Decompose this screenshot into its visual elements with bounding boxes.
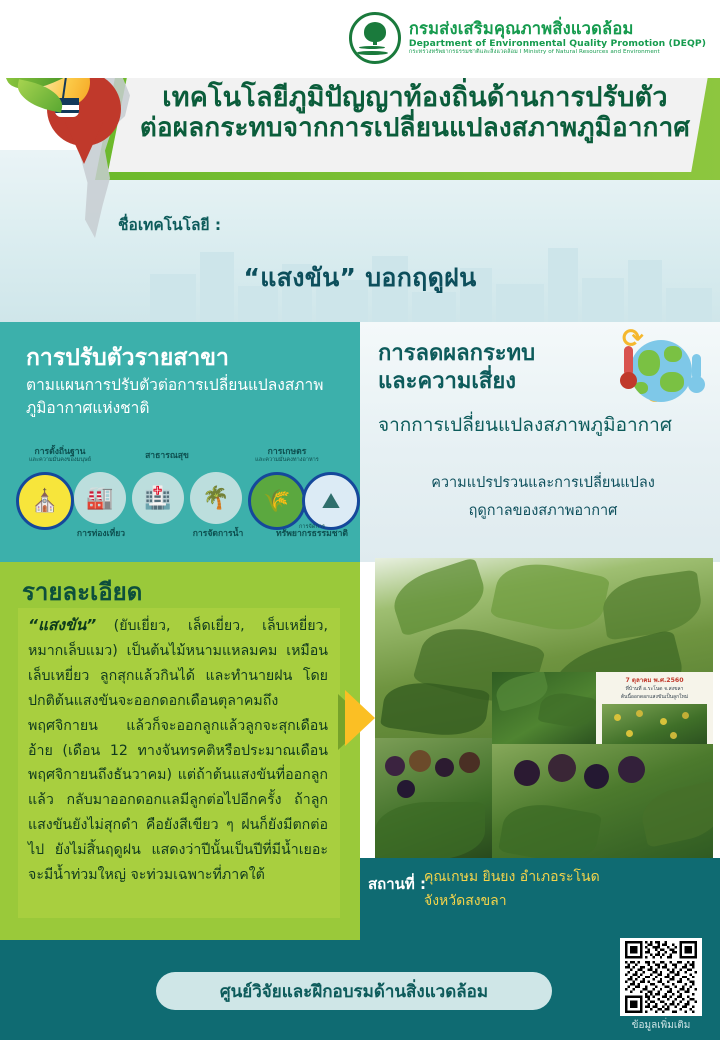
mitigation-subheading: จากการเปลี่ยนแปลงสภาพภูมิอากาศ <box>378 410 708 440</box>
technology-label: ชื่อเทคโนโลยี : <box>118 212 221 237</box>
qr-code-svg <box>623 941 699 1013</box>
adaptation-subheading: ตามแผนการปรับตัวต่อการเปลี่ยนแปลงสภาพภูม… <box>26 374 338 421</box>
mitigation-note: ความแปรปรวนและการเปลี่ยนแปลง ฤดูกาลของสภ… <box>378 470 708 525</box>
sector-label-public-health: สาธารณสุข <box>124 452 210 461</box>
public-health-icon: 🏥 <box>132 472 184 524</box>
deqp-logo: กรมส่งเสริมคุณภาพสิ่งแวดล้อม Department … <box>349 12 706 64</box>
mitigation-heading-line-2: และความเสี่ยง <box>378 368 603 396</box>
sector-label-agriculture: การเกษตร และความมั่นคงทางอาหาร <box>236 448 338 464</box>
org-ministry: กระทรวงทรัพยากรธรรมชาติและสิ่งแวดล้อม I … <box>409 49 706 55</box>
title-line-1: เทคโนโลยีภูมิปัญญาท้องถิ่นด้านการปรับตัว <box>135 82 695 113</box>
agriculture-icon: 🌾 <box>251 475 303 527</box>
inset-photo-image <box>602 704 707 746</box>
sector-icon-tourism[interactable]: 🏭 <box>74 472 126 524</box>
sector-icon-public-health[interactable]: 🏥 <box>132 472 184 524</box>
inset-header: 7 ตุลาคม พ.ศ.2560 <box>600 675 709 685</box>
adaptation-panel: การปรับตัวรายสาขา ตามแผนการปรับตัวต่อการ… <box>0 322 360 562</box>
deqp-tree-water-logo-icon <box>349 12 401 64</box>
water-management-icon: 🌴 <box>190 472 242 524</box>
adaptation-heading: การปรับตัวรายสาขา <box>26 340 229 376</box>
org-name-en: Department of Environmental Quality Prom… <box>409 39 706 49</box>
center-name-badge: ศูนย์วิจัยและฝึกอบรมด้านสิ่งแวดล้อม <box>156 972 552 1010</box>
details-term: “แสงขัน” <box>28 616 96 634</box>
page-title: เทคโนโลยีภูมิปัญญาท้องถิ่นด้านการปรับตัว… <box>135 82 695 143</box>
sector-label-natural-resources: การจัดการ ทรัพยากรธรรมชาติ <box>264 524 360 540</box>
title-line-2: ต่อผลกระทบจากการเปลี่ยนแปลงสภาพภูมิอากาศ <box>135 113 695 143</box>
secondary-photo <box>492 672 596 744</box>
sector-icon-water-management[interactable]: 🌴 <box>190 472 242 524</box>
location-label: สถานที่ : <box>368 872 426 896</box>
inset-photo-card: 7 ตุลาคม พ.ศ.2560 ที่บ้านที่ อ.ระโนด จ.ส… <box>596 672 713 750</box>
mitigation-note-line-2: ฤดูกาลของสภาพอากาศ <box>378 498 708 526</box>
location-line-1: คุณเกษม ยินยง อำเภอระโนด <box>424 866 600 888</box>
page-header: กรมส่งเสริมคุณภาพสิ่งแวดล้อม Department … <box>0 0 720 78</box>
inset-line-1: ที่บ้านที่ อ.ระโนด จ.สงขลา <box>600 685 709 693</box>
location-line-2: จังหวัดสงขลา <box>424 890 507 912</box>
mitigation-heading-line-1: การลดผลกระทบ <box>378 340 603 368</box>
technology-name: “แสงขัน” บอกฤดูฝน <box>0 258 720 298</box>
mitigation-panel: การลดผลกระทบ และความเสี่ยง จากการเปลี่ยน… <box>360 322 720 562</box>
natural-resources-icon: ⛰ <box>305 475 357 527</box>
details-text: “แสงขัน” (ยับเยี่ยว, เล็ดเยี่ยว, เล็บเหย… <box>28 612 328 888</box>
sector-icon-agriculture[interactable]: 🌾 <box>248 472 306 530</box>
details-heading: รายละเอียด <box>22 572 142 611</box>
arrow-right-icon <box>345 690 375 746</box>
org-name-th: กรมส่งเสริมคุณภาพสิ่งแวดล้อม <box>409 20 706 38</box>
sector-label-settlement: การตั้งถิ่นฐาน และความมั่นคงของมนุษย์ <box>10 448 110 464</box>
berries-photo <box>375 738 492 862</box>
mitigation-heading: การลดผลกระทบ และความเสี่ยง <box>378 340 603 395</box>
settlement-icon: ⛪ <box>19 475 71 527</box>
qr-caption: ข้อมูลเพิ่มเติม <box>612 1018 710 1033</box>
poster-root: กรมส่งเสริมคุณภาพสิ่งแวดล้อม Department … <box>0 0 720 1040</box>
qr-code-icon[interactable] <box>620 938 702 1016</box>
center-name: ศูนย์วิจัยและฝึกอบรมด้านสิ่งแวดล้อม <box>220 978 488 1005</box>
tertiary-photo <box>492 744 713 862</box>
sector-icon-natural-resources[interactable]: ⛰ <box>302 472 360 530</box>
globe-thermometer-icon: ⟳ ⟳ <box>616 328 700 412</box>
sector-icon-settlement[interactable]: ⛪ <box>16 472 74 530</box>
inset-line-2: ต้นนี้ออกดอกแสงขันเป็นลูกใหม่ <box>600 693 709 701</box>
tourism-icon: 🏭 <box>74 472 126 524</box>
details-body: (ยับเยี่ยว, เล็ดเยี่ยว, เล็บเหยี่ยว, หมา… <box>28 618 328 883</box>
mitigation-note-line-1: ความแปรปรวนและการเปลี่ยนแปลง <box>378 470 708 498</box>
sector-icon-row: การตั้งถิ่นฐาน และความมั่นคงของมนุษย์ สา… <box>6 450 360 556</box>
sector-label-tourism: การท่องเที่ยว <box>54 530 148 539</box>
sector-label-water-management: การจัดการน้ำ <box>172 530 264 539</box>
